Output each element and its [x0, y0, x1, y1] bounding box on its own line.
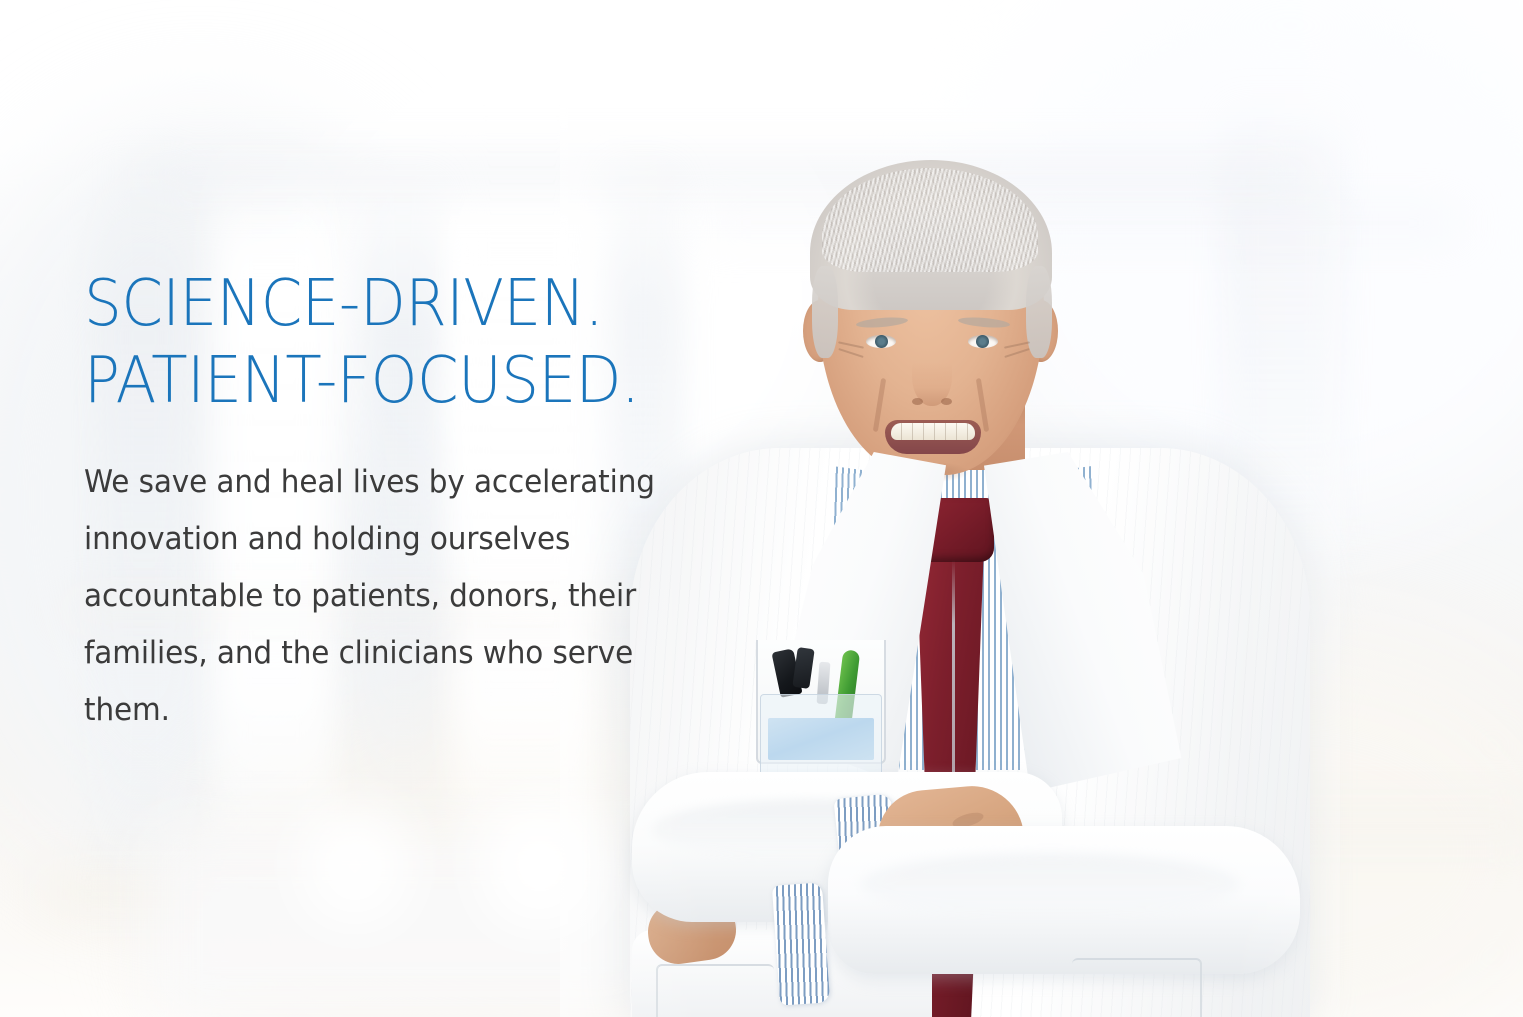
nose [912, 344, 952, 406]
iris-right [976, 335, 989, 348]
headline-line-2: PATIENT-FOCUSED. [84, 343, 679, 420]
iris-left [875, 335, 888, 348]
headline-line-1: SCIENCE-DRIVEN. [84, 266, 679, 343]
body-line-5: them. [84, 682, 711, 739]
body-line-3: accountable to patients, donors, their [84, 568, 711, 625]
mission-statement: We save and heal lives by accelerating i… [84, 454, 711, 739]
nostril-right [941, 398, 952, 405]
hip-pocket-left [656, 964, 774, 1017]
hip-pocket-right [1072, 958, 1202, 1017]
teeth-detail [891, 423, 975, 440]
page-title: SCIENCE-DRIVEN. PATIENT-FOCUSED. [84, 266, 679, 420]
background-glow [300, 806, 410, 926]
hero-copy: SCIENCE-DRIVEN. PATIENT-FOCUSED. We save… [84, 266, 724, 739]
shirt-cuff-lower [772, 882, 830, 1005]
hero-banner: SCIENCE-DRIVEN. PATIENT-FOCUSED. We save… [0, 0, 1523, 1017]
sideburn-left [812, 266, 838, 358]
body-line-4: families, and the clinicians who serve [84, 625, 711, 682]
body-line-1: We save and heal lives by accelerating [84, 454, 711, 511]
nostril-left [912, 398, 923, 405]
id-badge-card [768, 718, 874, 760]
body-line-2: innovation and holding ourselves [84, 511, 711, 568]
sleeve-fold [860, 854, 1240, 916]
sideburn-right [1026, 266, 1052, 358]
